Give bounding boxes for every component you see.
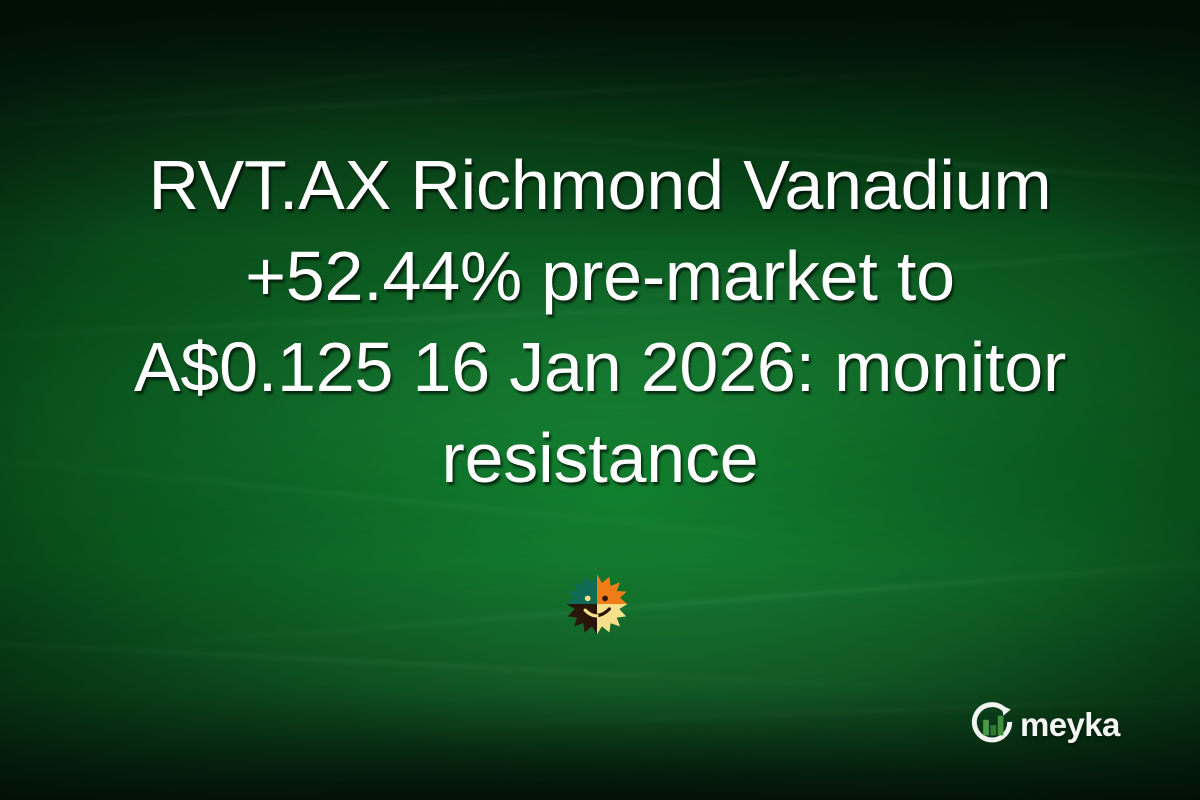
light-swoosh — [0, 524, 920, 800]
logo-bar-1 — [983, 720, 989, 736]
brand-name: meyka — [1020, 708, 1120, 741]
logo-bar-2 — [990, 725, 996, 735]
light-streak — [0, 21, 837, 125]
emoji-quadrants — [567, 574, 628, 634]
brand-logo: meyka — [966, 698, 1123, 750]
meyka-circular-bar-chart-logo — [966, 698, 1018, 750]
emoji-left-eye — [585, 596, 591, 602]
light-swoosh — [167, 508, 1200, 800]
light-streak — [0, 62, 1099, 132]
light-streak — [122, 554, 1200, 648]
logo-bar-3 — [998, 716, 1004, 736]
spiky-face-emoji — [566, 573, 628, 635]
social-share-card: RVT.AX Richmond Vanadium +52.44% pre-mar… — [0, 0, 1200, 800]
logo-arrow-head — [1001, 705, 1010, 715]
emoji-right-eye — [602, 596, 608, 602]
headline-text: RVT.AX Richmond Vanadium +52.44% pre-mar… — [0, 140, 1200, 504]
light-streak — [0, 633, 899, 689]
